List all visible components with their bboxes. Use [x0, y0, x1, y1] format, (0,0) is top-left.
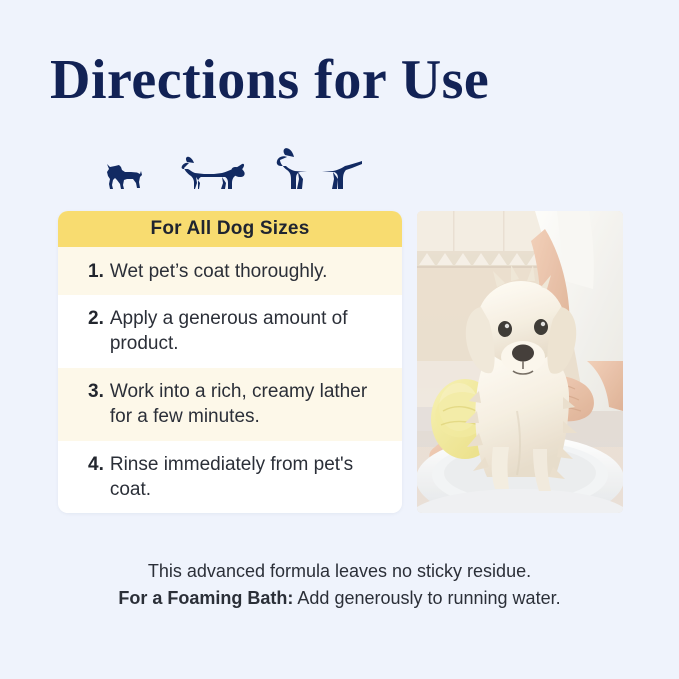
step-text: Wet pet’s coat thoroughly.: [110, 259, 384, 284]
dog-large-silhouette-icon: [274, 144, 364, 192]
dog-medium-silhouette-icon: [178, 152, 248, 192]
step-number: 2.: [88, 306, 104, 331]
footer-line-2: For a Foaming Bath: Add generously to ru…: [0, 585, 679, 612]
card-header-label: For All Dog Sizes: [58, 211, 402, 247]
page-title: Directions for Use: [50, 48, 489, 112]
step-item-4: 4. Rinse immediately from pet's coat.: [58, 441, 402, 513]
foaming-bath-instruction: Add generously to running water.: [293, 588, 560, 608]
step-item-2: 2. Apply a generous amount of product.: [58, 295, 402, 368]
step-number: 1.: [88, 259, 104, 284]
step-text: Rinse immediately from pet's coat.: [110, 452, 384, 502]
directions-for-use-panel: Directions for Use For All Dog Sizes 1.: [0, 0, 679, 679]
step-item-1: 1. Wet pet’s coat thoroughly.: [58, 247, 402, 295]
step-number: 3.: [88, 379, 104, 404]
step-number: 4.: [88, 452, 104, 477]
steps-list: 1. Wet pet’s coat thoroughly. 2. Apply a…: [58, 247, 402, 513]
puppy-bath-photo: [417, 211, 623, 513]
footer-notes: This advanced formula leaves no sticky r…: [0, 558, 679, 612]
step-item-3: 3. Work into a rich, creamy lather for a…: [58, 368, 402, 441]
dog-size-silhouettes: [100, 142, 370, 192]
instruction-card: For All Dog Sizes 1. Wet pet’s coat thor…: [58, 211, 402, 513]
step-text: Work into a rich, creamy lather for a fe…: [110, 379, 384, 429]
foaming-bath-label: For a Foaming Bath:: [118, 588, 293, 608]
footer-line-1: This advanced formula leaves no sticky r…: [0, 558, 679, 585]
step-text: Apply a generous amount of product.: [110, 306, 384, 356]
dog-small-silhouette-icon: [100, 162, 146, 192]
